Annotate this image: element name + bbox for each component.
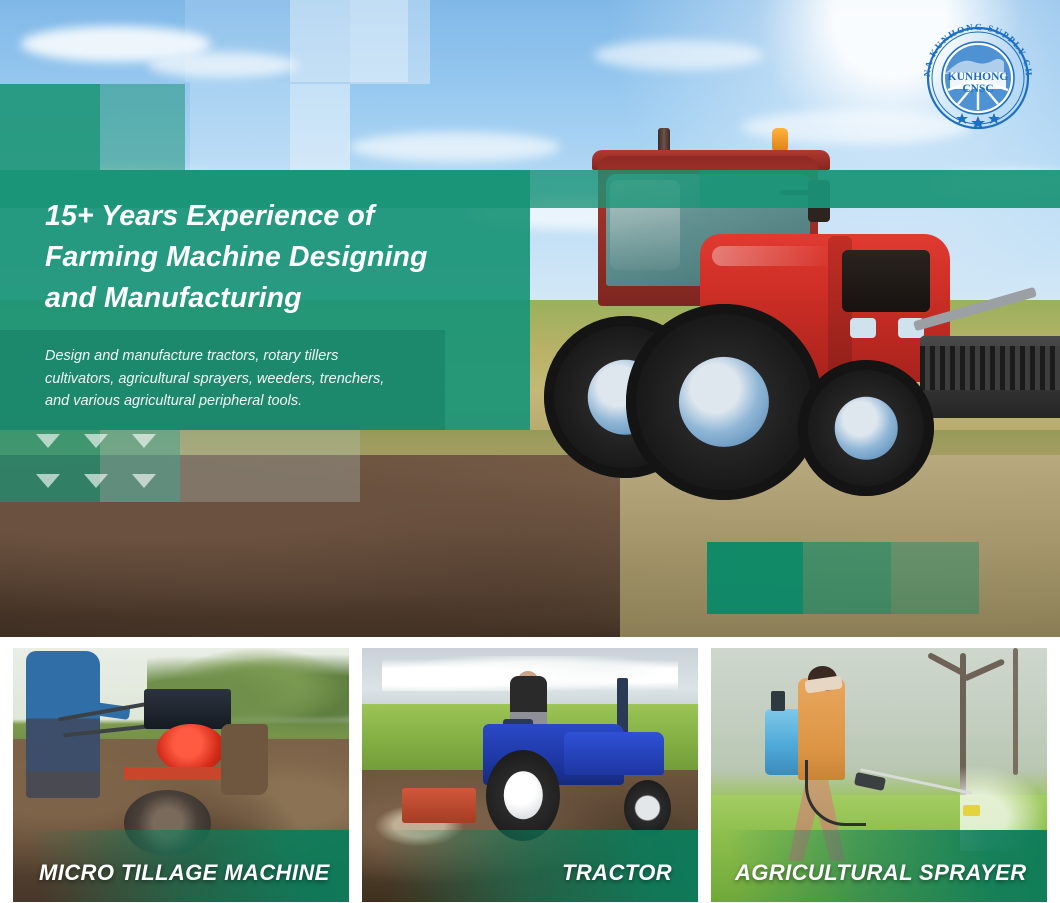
tractor-hood bbox=[564, 732, 665, 775]
chevron-down-icon bbox=[132, 434, 156, 448]
subcopy-line-3: and various agricultural peripheral tool… bbox=[45, 390, 465, 413]
product-card-tractor[interactable]: TRACTOR bbox=[362, 648, 698, 902]
tractor-rear-wheel bbox=[486, 750, 560, 841]
cloud-icon bbox=[594, 40, 764, 70]
chevron-down-icon bbox=[36, 434, 60, 448]
decor-block bbox=[190, 82, 290, 170]
tiller-deck bbox=[124, 767, 228, 780]
product-card-row: MICRO TILLAGE MACHINE TRACTOR bbox=[13, 648, 1047, 902]
soil-clod bbox=[221, 724, 268, 795]
decor-block bbox=[290, 84, 350, 170]
tractor-grille bbox=[842, 250, 930, 312]
tractor-wheel bbox=[798, 360, 934, 496]
company-logo[interactable]: KUNHONG CNSC CHINA KUNHONG SUPPLY CHAIN bbox=[914, 14, 1042, 142]
logo-line-1: KUNHONG bbox=[948, 71, 1009, 83]
headline-line-2: Farming Machine Designing bbox=[45, 237, 515, 278]
chevron-down-icon bbox=[84, 474, 108, 488]
logo-line-2: CNSC bbox=[962, 83, 993, 95]
subcopy-line-1: Design and manufacture tractors, rotary … bbox=[45, 345, 465, 368]
product-card-agricultural-sprayer[interactable]: AGRICULTURAL SPRAYER bbox=[711, 648, 1047, 902]
sprayer-tank-pump bbox=[771, 691, 784, 711]
card-tree bbox=[1013, 648, 1018, 775]
sprayer-nozzle bbox=[963, 805, 980, 815]
card-label: AGRICULTURAL SPRAYER bbox=[711, 844, 1047, 902]
chevron-down-icon bbox=[36, 474, 60, 488]
subcopy-line-2: cultivators, agricultural sprayers, weed… bbox=[45, 368, 465, 391]
hero-subcopy: Design and manufacture tractors, rotary … bbox=[45, 345, 465, 413]
tractor-headlight-left bbox=[850, 318, 876, 338]
decor-block-green-bottom bbox=[707, 542, 803, 614]
hero-section: 15+ Years Experience of Farming Machine … bbox=[0, 0, 1060, 637]
cloud-icon bbox=[350, 132, 560, 162]
card-label: MICRO TILLAGE MACHINE bbox=[13, 844, 349, 902]
headline-line-3: and Manufacturing bbox=[45, 278, 515, 319]
hero-headline: 15+ Years Experience of Farming Machine … bbox=[45, 196, 515, 319]
decor-block bbox=[350, 0, 430, 84]
decor-block-green bbox=[0, 84, 100, 170]
tractor-beacon-light bbox=[772, 128, 788, 150]
decor-block bbox=[185, 0, 290, 82]
decor-block-green-bottom bbox=[803, 542, 891, 614]
tractor-front-implement bbox=[920, 336, 1060, 418]
tractor-front-wheel bbox=[624, 780, 671, 836]
decor-block-green-bottom bbox=[891, 542, 979, 614]
chevron-down-icon bbox=[132, 474, 156, 488]
promo-banner: 15+ Years Experience of Farming Machine … bbox=[0, 0, 1060, 903]
headline-line-1: 15+ Years Experience of bbox=[45, 196, 515, 237]
chevron-down-icon bbox=[84, 434, 108, 448]
card-operator bbox=[26, 651, 100, 798]
tractor-rotary-tiller bbox=[402, 788, 476, 824]
product-card-micro-tillage-machine[interactable]: MICRO TILLAGE MACHINE bbox=[13, 648, 349, 902]
tiller-engine bbox=[144, 689, 231, 730]
tractor-wheel bbox=[626, 304, 822, 500]
card-label: TRACTOR bbox=[362, 844, 698, 902]
tiller-flywheel bbox=[157, 724, 224, 772]
decor-arrows-group bbox=[36, 430, 166, 502]
decor-block-green bbox=[100, 84, 185, 170]
